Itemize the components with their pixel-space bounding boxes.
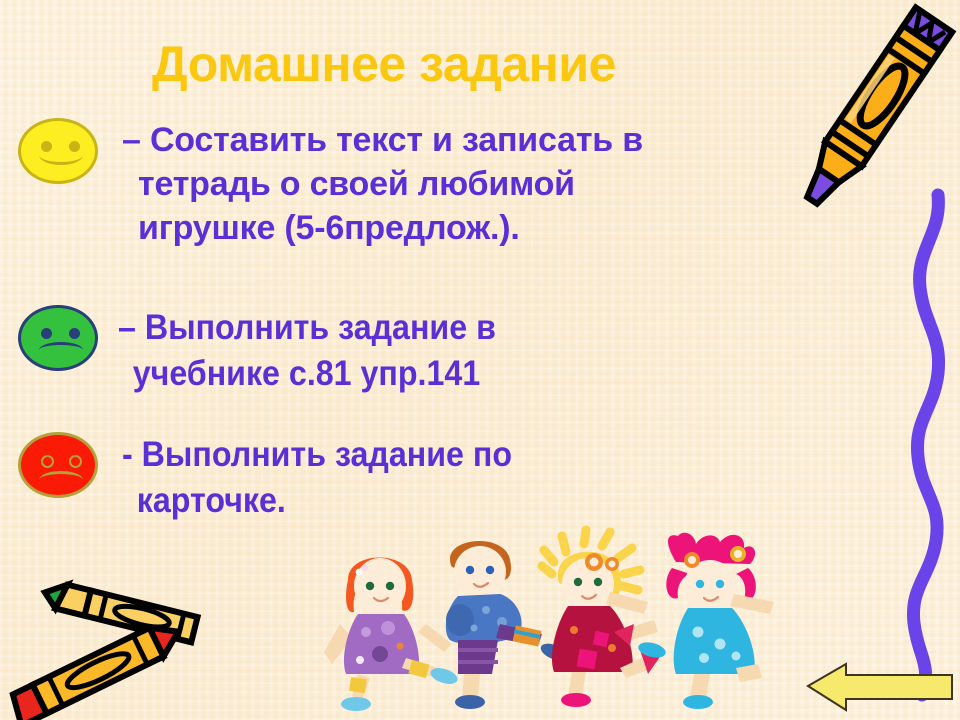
slide-canvas: Домашнее задание – Составить текст и зап… [0, 0, 960, 720]
eye-right [69, 455, 82, 468]
bullet-text-1: – Составить текст и записать в тетрадь о… [122, 118, 862, 250]
child-girl-pinkhair-blue-dress [614, 533, 774, 709]
bullet-text-3: - Выполнить задание по карточке. [122, 432, 766, 524]
eye-right [69, 328, 80, 339]
smiley-neutral-green-icon [18, 305, 98, 371]
child-boy-blue-shirt [446, 541, 570, 709]
bullet-text-2: – Выполнить задание в учебнике с.81 упр.… [118, 305, 762, 397]
mouth-frown [39, 471, 83, 489]
eye-left [41, 328, 52, 339]
bullet-line: игрушке (5-6предлож.). [122, 206, 862, 250]
bullet-line: - Выполнить задание по [122, 432, 766, 478]
smiley-sad-red-icon [18, 432, 98, 498]
children-illustration [318, 528, 818, 720]
mouth-frown [39, 342, 83, 360]
bullet-line: – Составить текст и записать в [122, 118, 862, 162]
purple-wavy-line-icon [880, 195, 960, 695]
bullet-line: карточке. [122, 478, 766, 524]
bullet-line: – Выполнить задание в [118, 305, 762, 351]
bullet-line: тетрадь о своей любимой [122, 162, 862, 206]
child-girl-redhair-purple-dress [324, 558, 459, 712]
bullet-line: учебнике с.81 упр.141 [118, 351, 762, 397]
yellow-left-arrow-icon [806, 660, 954, 712]
page-title: Домашнее задание [152, 38, 792, 91]
smiley-happy-yellow-icon [18, 118, 98, 184]
mouth-smile [39, 147, 83, 165]
child-girl-blondehair-red-dress [542, 530, 662, 707]
eye-left [41, 455, 54, 468]
crossed-crayons-icon [2, 570, 232, 720]
